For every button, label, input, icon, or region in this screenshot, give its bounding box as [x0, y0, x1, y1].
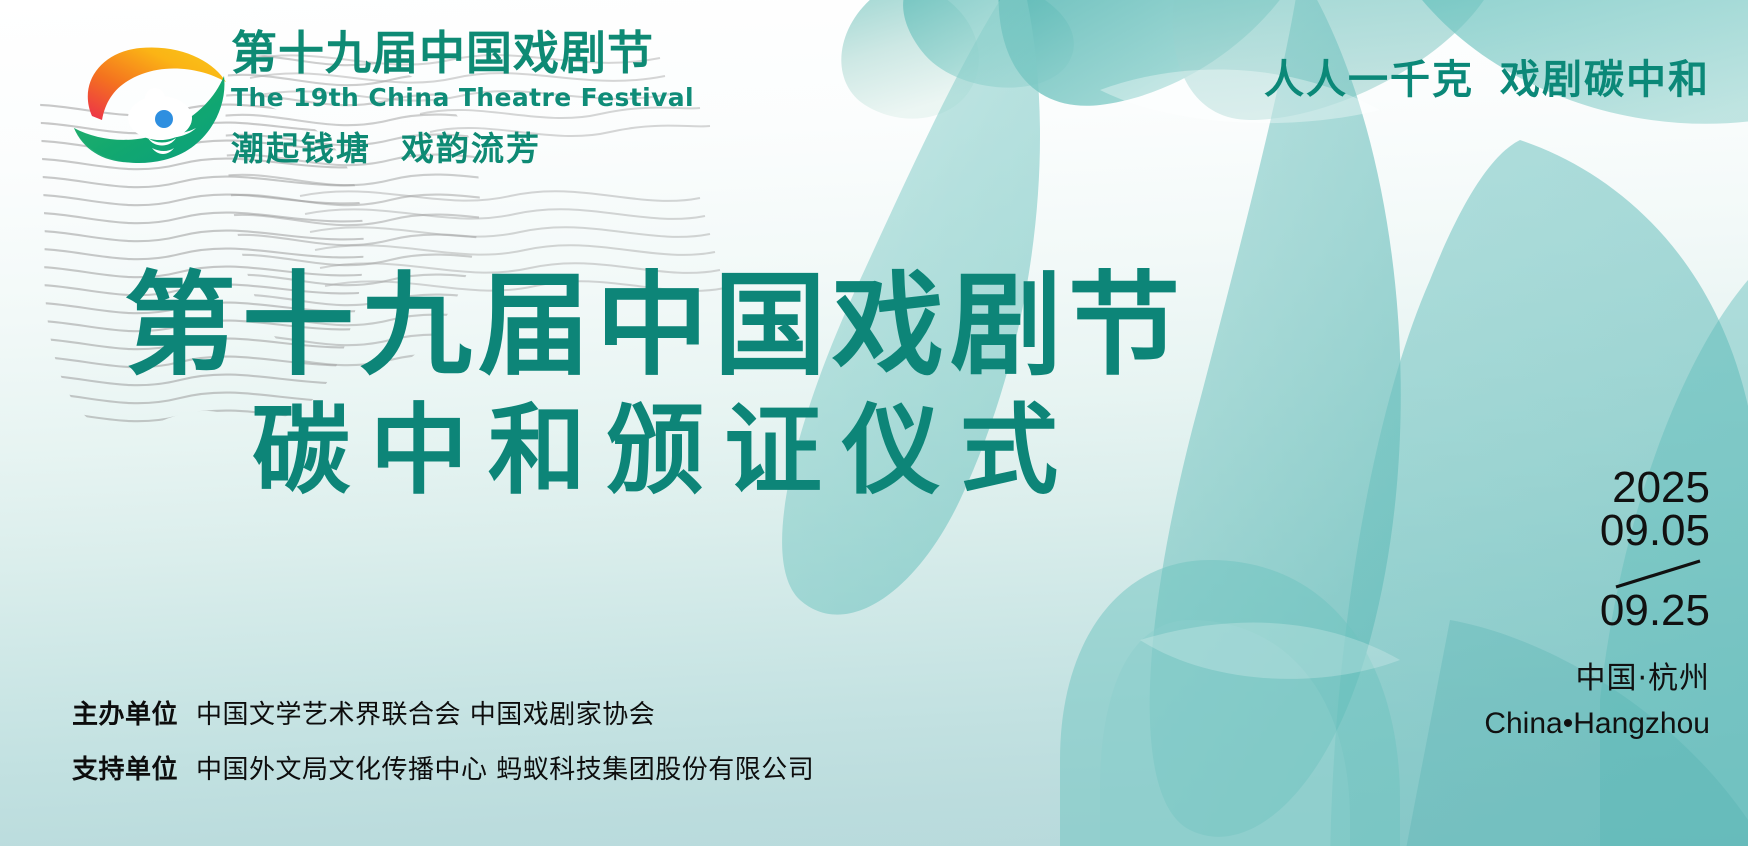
diagonal-slash-icon — [1608, 557, 1708, 591]
date-start: 09.05 — [1410, 509, 1710, 553]
city-name-cn: 中国·杭州 — [1410, 653, 1710, 697]
logo-title-en: The 19th China Theatre Festival — [231, 83, 701, 112]
main-title-block: 第十九届中国戏剧节 碳中和颁证仪式 — [0, 268, 1310, 506]
date-location-block: 2025 09.05 09.25 中国·杭州 China•Hangzhou — [1410, 466, 1710, 741]
theatre-festival-leaf-emblem-icon — [56, 32, 232, 182]
organizer-label: 支持单位 — [72, 755, 178, 785]
organizer-row: 支持单位中国外文局文化传播中心 蚂蚁科技集团股份有限公司 — [72, 749, 814, 786]
slogan-part2: 戏剧碳中和 — [1500, 57, 1710, 103]
date-range-slash — [1410, 553, 1710, 587]
date-year: 2025 — [1410, 466, 1710, 509]
organizers-block: 主办单位中国文学艺术界联合会 中国戏剧家协会 支持单位中国外文局文化传播中心 蚂… — [72, 694, 814, 804]
organizer-values: 中国外文局文化传播中心 蚂蚁科技集团股份有限公司 — [196, 755, 814, 785]
slogan-part1: 人人一千克 — [1264, 57, 1474, 103]
campaign-slogan: 人人一千克戏剧碳中和 — [1264, 47, 1710, 105]
logo-title-cn: 第十九届中国戏剧节 — [231, 28, 701, 80]
event-banner: 第十九届中国戏剧节 The 19th China Theatre Festiva… — [0, 0, 1748, 846]
organizer-values: 中国文学艺术界联合会 中国戏剧家协会 — [196, 700, 655, 730]
city-name-en: China•Hangzhou — [1410, 707, 1710, 741]
date-end: 09.25 — [1410, 589, 1710, 633]
organizer-row: 主办单位中国文学艺术界联合会 中国戏剧家协会 — [72, 694, 814, 731]
main-title-line2: 碳中和颁证仪式 — [0, 398, 1310, 506]
logo-wordmark: 第十九届中国戏剧节 The 19th China Theatre Festiva… — [231, 28, 701, 170]
logo-subtitle: 潮起钱塘戏韵流芳 — [231, 122, 701, 170]
organizer-label: 主办单位 — [72, 700, 178, 730]
logo-subtitle-part2: 戏韵流芳 — [401, 129, 541, 168]
logo-subtitle-part1: 潮起钱塘 — [231, 129, 371, 168]
main-title-line1: 第十九届中国戏剧节 — [0, 268, 1310, 384]
festival-logo-block: 第十九届中国戏剧节 The 19th China Theatre Festiva… — [56, 28, 696, 208]
